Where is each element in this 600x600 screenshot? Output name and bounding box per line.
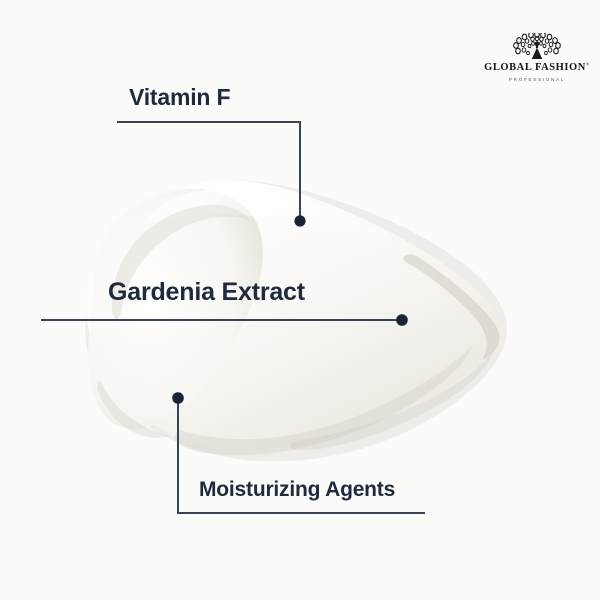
callout-label-vitamin-f: Vitamin F: [129, 84, 230, 111]
infographic-canvas: Vitamin F Gardenia Extract Moisturizing …: [0, 0, 600, 600]
brand-tagline: PROFESSIONAL: [509, 77, 565, 82]
callout-label-moisturizing-agents: Moisturizing Agents: [199, 478, 395, 502]
brand-name: GLOBAL FASHION®: [484, 62, 590, 74]
brand-logo: GLOBAL FASHION® PROFESSIONAL: [487, 33, 587, 85]
brand-name-text: GLOBAL FASHION: [484, 62, 586, 73]
peacock-icon: [509, 33, 565, 60]
trademark-symbol: ®: [586, 62, 590, 67]
callout-label-gardenia-extract: Gardenia Extract: [108, 278, 305, 307]
